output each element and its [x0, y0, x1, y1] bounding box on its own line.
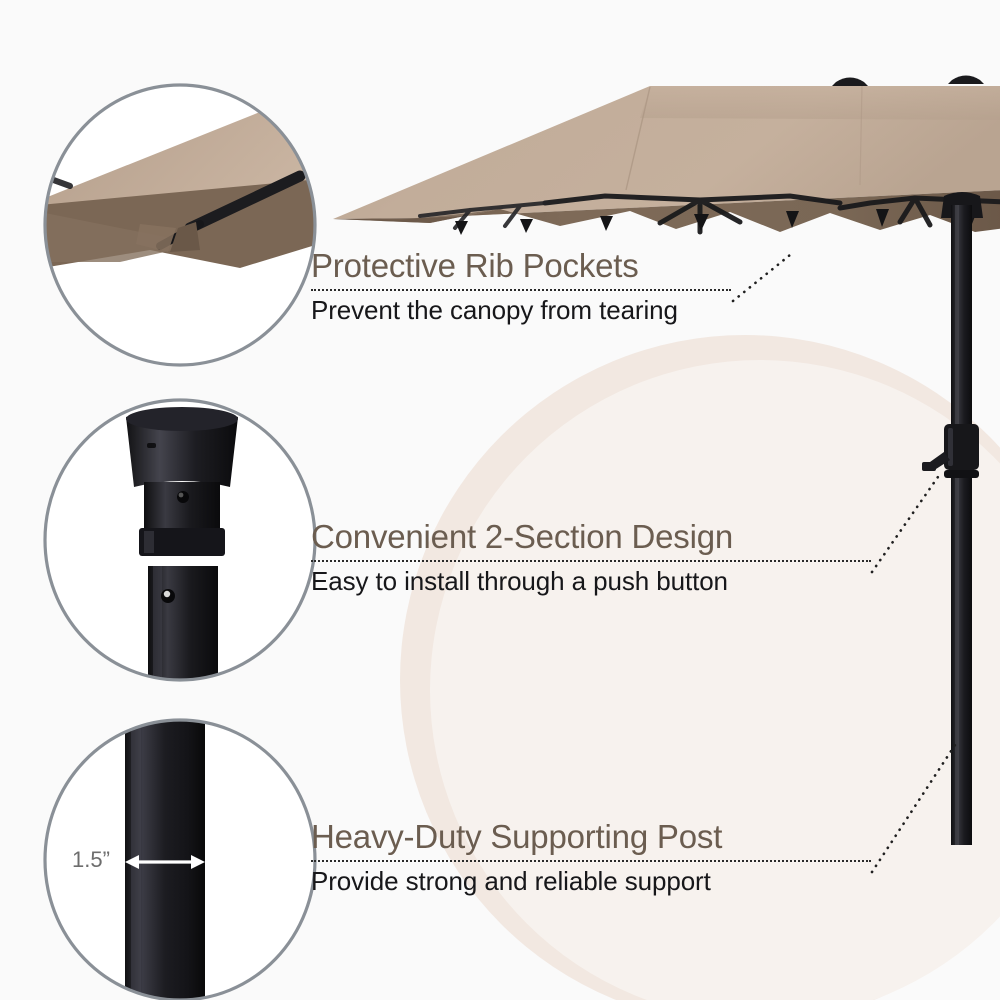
- feature-title-two-section-design: Convenient 2-Section Design: [311, 520, 871, 553]
- leader-line-rib-pockets: [733, 255, 790, 301]
- infographic-canvas: 1.5” Protective Rib Pockets Prevent the …: [0, 0, 1000, 1000]
- feature-divider-supporting-post: [311, 860, 871, 862]
- feature-divider-two-section-design: [311, 560, 871, 562]
- feature-title-rib-pockets: Protective Rib Pockets: [311, 249, 731, 282]
- feature-block-supporting-post: Heavy-Duty Supporting Post Provide stron…: [311, 820, 871, 895]
- feature-subtitle-supporting-post: Provide strong and reliable support: [311, 868, 871, 895]
- feature-subtitle-rib-pockets: Prevent the canopy from tearing: [311, 297, 731, 324]
- feature-block-rib-pockets: Protective Rib Pockets Prevent the canop…: [311, 249, 731, 324]
- feature-title-supporting-post: Heavy-Duty Supporting Post: [311, 820, 871, 853]
- pole-diameter-label: 1.5”: [72, 847, 110, 873]
- feature-subtitle-two-section-design: Easy to install through a push button: [311, 568, 871, 595]
- feature-divider-rib-pockets: [311, 289, 731, 291]
- feature-block-two-section-design: Convenient 2-Section Design Easy to inst…: [311, 520, 871, 595]
- leader-line-two-section: [872, 474, 940, 572]
- leader-line-supporting-post: [872, 745, 955, 872]
